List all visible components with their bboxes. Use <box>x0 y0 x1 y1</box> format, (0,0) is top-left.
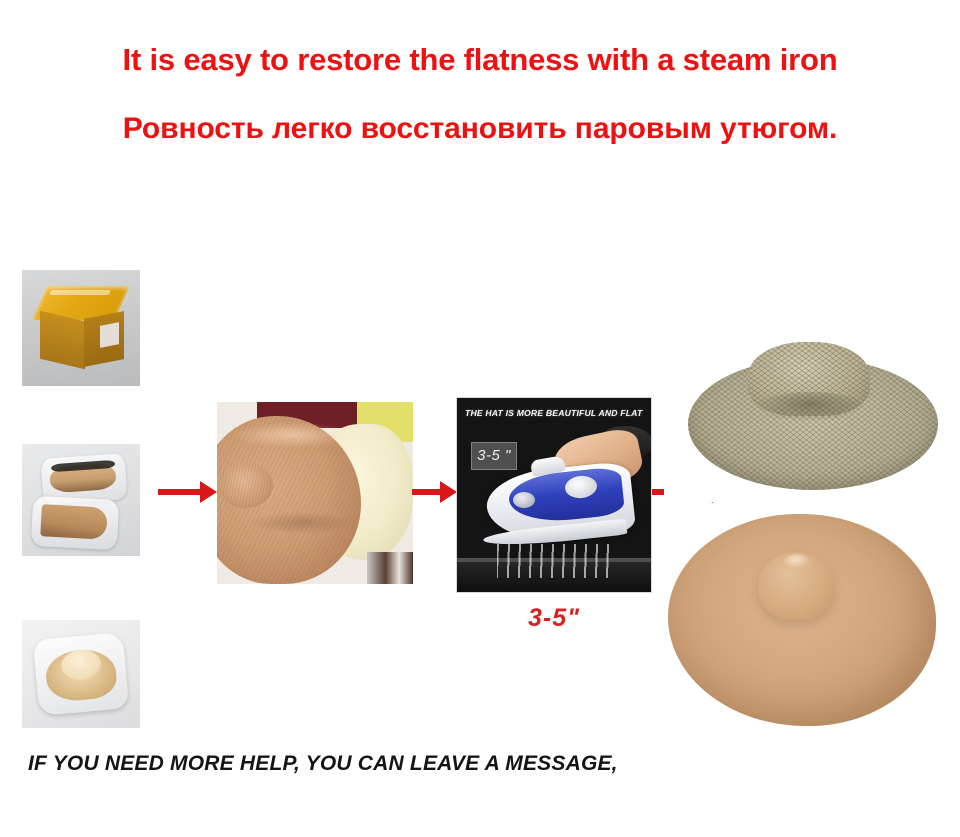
arrow-shaft <box>158 489 202 495</box>
photo-smooth-tan-hat <box>654 508 954 736</box>
straw-hat-crown-shadow <box>756 392 864 422</box>
hat-crease-lump <box>219 462 273 508</box>
photo-creased-hats <box>217 402 413 584</box>
page-title-english: It is easy to restore the flatness with … <box>0 42 960 78</box>
watermark-text <box>265 205 475 260</box>
background-strip <box>367 552 413 584</box>
iron-duration-chip: 3-5 " <box>471 442 517 470</box>
arrow-right-icon <box>158 481 218 503</box>
arrow-head <box>200 481 217 503</box>
page-title-russian: Ровность легко восстановить паровым утюг… <box>0 112 960 146</box>
steam-jets <box>497 544 609 578</box>
photo-vacuum-sealed-packages <box>22 444 140 556</box>
tan-hat-brim <box>668 514 936 726</box>
photo-steam-iron: THE HAT IS MORE BEAUTIFUL AND FLAT 3-5 " <box>456 397 652 593</box>
bag-contents-hat <box>40 504 108 539</box>
photo-woven-straw-hat <box>664 330 960 502</box>
photo-flat-packed-hat <box>22 620 140 728</box>
arrow-right-icon <box>412 481 458 503</box>
carton-shipping-label <box>100 322 119 348</box>
vacuum-bag-lower <box>31 496 119 550</box>
iron-panel-caption: THE HAT IS MORE BEAUTIFUL AND FLAT <box>465 408 649 418</box>
hat-wrinkle-highlight <box>233 422 353 448</box>
carton-front-face <box>40 311 85 369</box>
iron-duration-label: 3-5" <box>456 604 652 633</box>
tan-hat-crown-highlight <box>784 554 810 568</box>
photo-shipping-carton <box>22 270 140 386</box>
iron-temperature-dial <box>513 492 535 508</box>
arrow-shaft <box>412 489 442 495</box>
footer-message: IF YOU NEED MORE HELP, YOU CAN LEAVE A M… <box>28 752 618 776</box>
hat-wrinkle-shadow <box>247 512 357 534</box>
arrow-head <box>440 481 457 503</box>
vacuum-bag <box>33 632 129 716</box>
carton-tape-highlight <box>49 290 111 295</box>
